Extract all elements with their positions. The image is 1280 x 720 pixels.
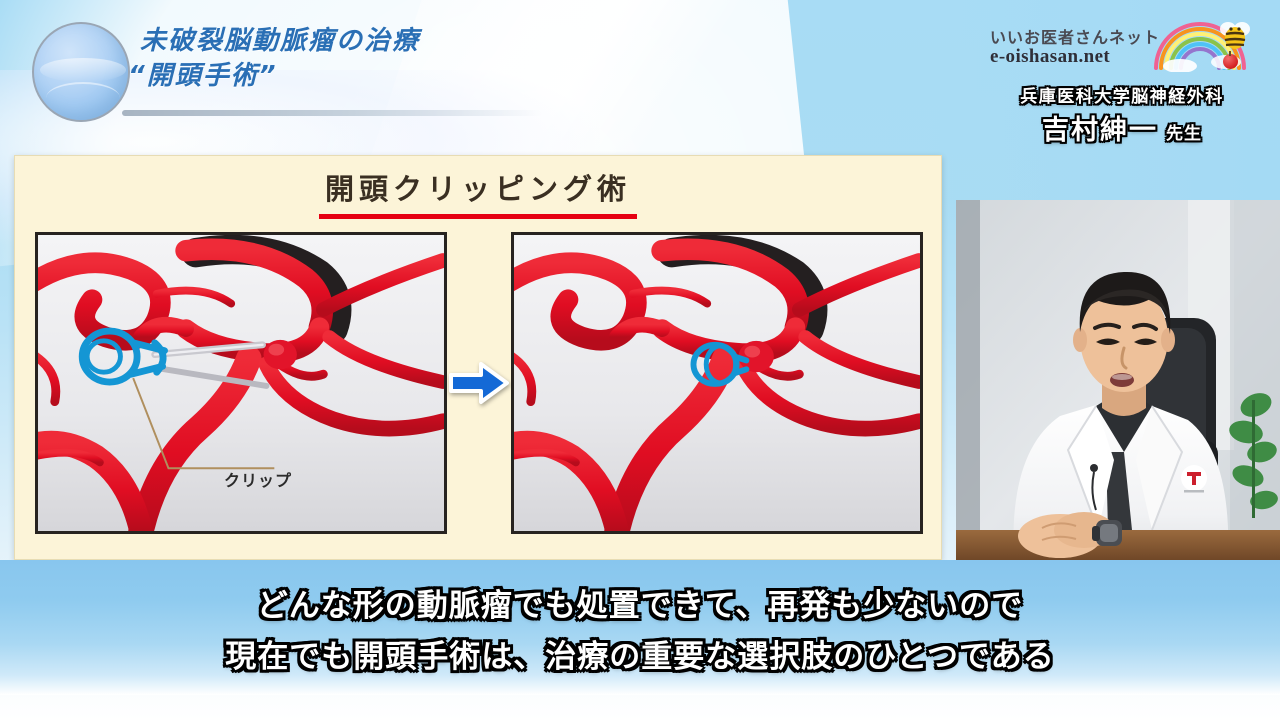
program-title-block: 未破裂脳動脈瘤の治療 “開頭手術” xyxy=(0,0,660,150)
subtitle-band: どんな形の動脈瘤でも処置できて、再発も少ないので 現在でも開頭手術は、治療の重要… xyxy=(0,560,1280,695)
program-title-line2: “開頭手術” xyxy=(128,59,640,94)
title-underline-rule xyxy=(122,110,542,116)
site-name-en: e-oishasan.net xyxy=(990,46,1110,68)
artery-diagram-after xyxy=(514,235,920,531)
site-name-jp: いいお医者さんネット xyxy=(990,24,1160,48)
doctor-honorific: 先生 xyxy=(1166,119,1202,144)
doctor-name-row: 吉村紳一 先生 xyxy=(982,108,1262,147)
apple-icon xyxy=(1223,54,1238,69)
slide-title: 開頭クリッピング術 xyxy=(319,166,637,219)
program-title-line1: 未破裂脳動脈瘤の治療 xyxy=(140,24,640,59)
transition-arrow-gap xyxy=(447,360,511,406)
brand-block: いいお医者さんネット e-oishasan.net xyxy=(982,18,1262,147)
blue-sphere-icon xyxy=(32,22,130,122)
brand-logo-row: いいお医者さんネット e-oishasan.net xyxy=(982,18,1262,80)
slide-panel: 開頭クリッピング術 xyxy=(14,155,942,560)
doctor-interview-image xyxy=(956,200,1280,562)
bee-icon xyxy=(1218,20,1252,54)
illustration-panel-before: クリップ xyxy=(35,232,447,534)
slide-title-wrap: 開頭クリッピング術 xyxy=(15,166,941,219)
doctor-video-panel xyxy=(956,200,1280,562)
subtitle-line1: どんな形の動脈瘤でも処置できて、再発も少ないので xyxy=(257,580,1023,625)
doctor-name: 吉村紳一 xyxy=(1042,108,1158,147)
subtitle-line2: 現在でも開頭手術は、治療の重要な選択肢のひとつである xyxy=(225,631,1055,676)
illustration-panel-after xyxy=(511,232,923,534)
arrow-right-icon xyxy=(448,360,510,406)
video-frame: 未破裂脳動脈瘤の治療 “開頭手術” いいお医者さんネット e-oishasan.… xyxy=(0,0,1280,720)
clip-label: クリップ xyxy=(224,467,292,491)
department-label: 兵庫医科大学脳神経外科 xyxy=(982,82,1262,107)
illustration-row: クリップ xyxy=(35,232,923,534)
program-title-texts: 未破裂脳動脈瘤の治療 “開頭手術” xyxy=(140,24,640,94)
